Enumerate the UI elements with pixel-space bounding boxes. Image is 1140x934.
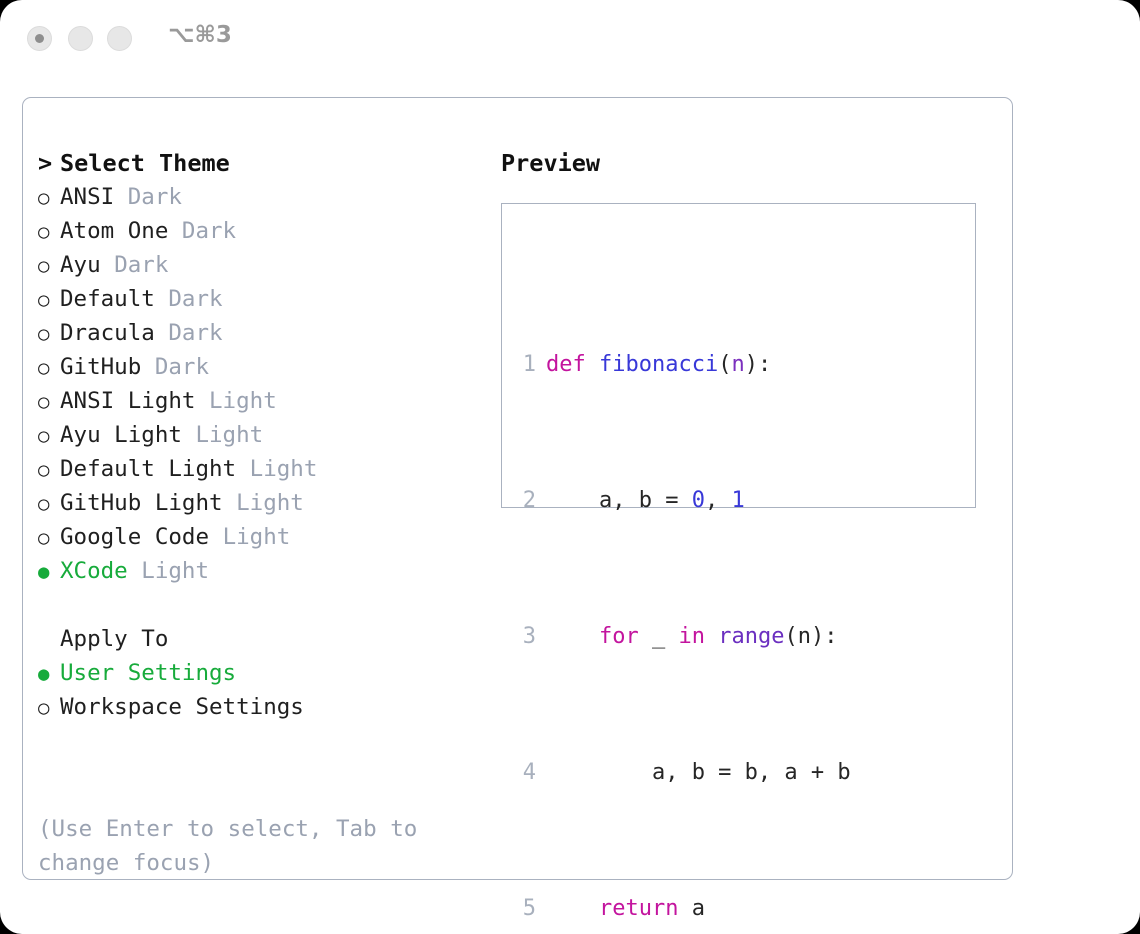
keyboard-hint-text: (Use Enter to select, Tab to change focu… (38, 812, 458, 880)
code-token (586, 352, 599, 377)
theme-list-item-google-code[interactable]: ○Google Code Light (38, 520, 478, 554)
theme-list: >Select Theme ○ANSI Dark ○Atom One Dark … (38, 146, 478, 724)
theme-list-item-ayu-dark[interactable]: ○Ayu Dark (38, 248, 478, 282)
theme-list-item-xcode[interactable]: ●XCode Light (38, 554, 478, 588)
theme-list-item-atom-one-dark[interactable]: ○Atom One Dark (38, 214, 478, 248)
radio-unselected-icon[interactable]: ○ (38, 351, 60, 385)
line-number: 1 (514, 348, 536, 382)
code-token: 0 (692, 488, 705, 513)
code-token: (n): (784, 624, 837, 649)
preview-box: 1def fibonacci(n): 2 a, b = 0, 1 3 for _… (501, 203, 976, 508)
keyboard-shortcut-label: ⌥⌘3 (168, 22, 232, 48)
theme-list-item-ansi-light[interactable]: ○ANSI Light Light (38, 384, 478, 418)
prompt-caret-icon: > (38, 146, 60, 180)
theme-list-item-github-dark[interactable]: ○GitHub Dark (38, 350, 478, 384)
theme-kind: Dark (168, 320, 222, 346)
code-token: a, b = (546, 488, 692, 513)
code-line: 5 return a (514, 892, 877, 926)
code-token: , (705, 488, 732, 513)
select-theme-heading-label: Select Theme (60, 149, 230, 177)
line-number: 4 (514, 756, 536, 790)
line-number: 5 (514, 892, 536, 926)
theme-name: Ayu Light (60, 422, 182, 448)
radio-selected-icon[interactable]: ● (38, 657, 60, 691)
theme-kind: Dark (155, 354, 209, 380)
radio-unselected-icon[interactable]: ○ (38, 487, 60, 521)
theme-name: ANSI Light (60, 388, 195, 414)
theme-kind: Light (223, 524, 291, 550)
title-bar: ⌥⌘3 (0, 0, 1140, 78)
theme-name: ANSI (60, 184, 114, 210)
code-token (546, 624, 599, 649)
code-token: a (678, 896, 705, 921)
app-window: ⌥⌘3 >Select Theme ○ANSI Dark ○Atom One D… (0, 0, 1140, 934)
code-token: return (599, 896, 678, 921)
window-dot-active-icon[interactable] (27, 26, 52, 51)
theme-name: GitHub Light (60, 490, 223, 516)
theme-list-item-ansi-dark[interactable]: ○ANSI Dark (38, 180, 478, 214)
apply-to-heading: ○Apply To (38, 622, 478, 656)
theme-name: GitHub (60, 354, 141, 380)
code-token: range (718, 624, 784, 649)
theme-kind: Light (209, 388, 277, 414)
radio-unselected-icon[interactable]: ○ (38, 283, 60, 317)
code-token (546, 896, 599, 921)
line-number: 2 (514, 484, 536, 518)
code-line: 2 a, b = 0, 1 (514, 484, 877, 518)
theme-kind: Dark (114, 252, 168, 278)
apply-to-item-user-settings[interactable]: ●User Settings (38, 656, 478, 690)
theme-kind: Light (141, 558, 209, 584)
theme-name: Dracula (60, 320, 155, 346)
theme-list-item-dracula-dark[interactable]: ○Dracula Dark (38, 316, 478, 350)
radio-unselected-icon[interactable]: ○ (38, 521, 60, 555)
theme-kind: Light (236, 490, 304, 516)
preview-code: 1def fibonacci(n): 2 a, b = 0, 1 3 for _… (514, 246, 877, 934)
code-token: a, b = b, a + b (546, 760, 851, 785)
code-token: ( (718, 352, 731, 377)
radio-unselected-icon[interactable]: ○ (38, 419, 60, 453)
preview-heading: Preview (501, 146, 600, 180)
theme-name: Atom One (60, 218, 168, 244)
theme-name: Default (60, 286, 155, 312)
theme-list-item-default-light[interactable]: ○Default Light Light (38, 452, 478, 486)
theme-kind: Light (195, 422, 263, 448)
theme-list-item-default-dark[interactable]: ○Default Dark (38, 282, 478, 316)
code-line: 4 a, b = b, a + b (514, 756, 877, 790)
code-line: 1def fibonacci(n): (514, 348, 877, 382)
window-dot-icon[interactable] (107, 26, 132, 51)
window-dot-icon[interactable] (68, 26, 93, 51)
code-token: for (599, 624, 639, 649)
code-token: n (731, 352, 744, 377)
radio-unselected-icon[interactable]: ○ (38, 453, 60, 487)
spacer-icon: ○ (38, 623, 60, 657)
theme-kind: Dark (128, 184, 182, 210)
theme-name: Ayu (60, 252, 101, 278)
theme-list-item-github-light[interactable]: ○GitHub Light Light (38, 486, 478, 520)
code-token: ): (745, 352, 772, 377)
radio-unselected-icon[interactable]: ○ (38, 181, 60, 215)
theme-name: Google Code (60, 524, 209, 550)
apply-to-name: User Settings (60, 660, 236, 686)
apply-to-name: Workspace Settings (60, 694, 304, 720)
theme-kind: Dark (182, 218, 236, 244)
apply-to-item-workspace-settings[interactable]: ○Workspace Settings (38, 690, 478, 724)
radio-unselected-icon[interactable]: ○ (38, 215, 60, 249)
radio-unselected-icon[interactable]: ○ (38, 249, 60, 283)
theme-picker-panel: >Select Theme ○ANSI Dark ○Atom One Dark … (22, 97, 1013, 880)
theme-name: Default Light (60, 456, 236, 482)
theme-kind: Dark (168, 286, 222, 312)
apply-to-heading-label: Apply To (60, 626, 168, 652)
code-token: def (546, 352, 586, 377)
radio-selected-icon[interactable]: ● (38, 555, 60, 589)
theme-kind: Light (250, 456, 318, 482)
code-token: fibonacci (599, 352, 718, 377)
preview-pane: Preview 1def fibonacci(n): 2 a, b = 0, 1… (501, 146, 600, 180)
theme-list-item-ayu-light[interactable]: ○Ayu Light Light (38, 418, 478, 452)
radio-unselected-icon[interactable]: ○ (38, 691, 60, 725)
code-token (705, 624, 718, 649)
code-line: 3 for _ in range(n): (514, 620, 877, 654)
radio-unselected-icon[interactable]: ○ (38, 385, 60, 419)
spacer (38, 588, 478, 622)
line-number: 3 (514, 620, 536, 654)
select-theme-heading: >Select Theme (38, 146, 478, 180)
code-token: in (678, 624, 705, 649)
theme-name: XCode (60, 558, 128, 584)
code-token: 1 (731, 488, 744, 513)
code-token: _ (639, 624, 679, 649)
radio-unselected-icon[interactable]: ○ (38, 317, 60, 351)
